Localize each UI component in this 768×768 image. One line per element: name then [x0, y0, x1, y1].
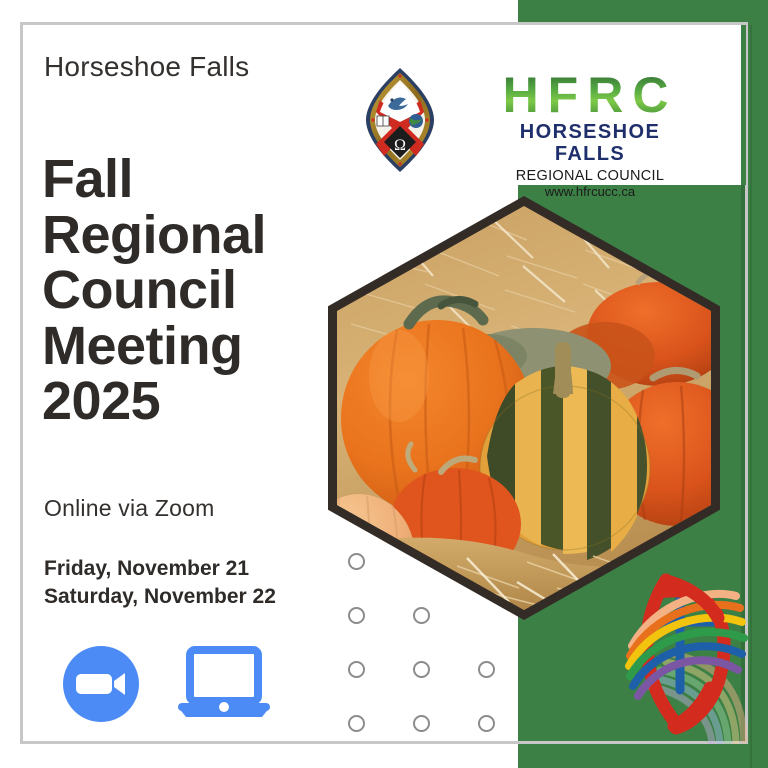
event-date-line-1: Friday, November 21 — [44, 555, 276, 583]
page-title-line-4: Meeting — [42, 319, 342, 375]
event-dates: Friday, November 21Saturday, November 22 — [44, 555, 276, 612]
page-title-line-5: 2025 — [42, 374, 342, 430]
pumpkins-on-straw-hexagon-photo — [328, 196, 720, 620]
grid-dot — [478, 661, 495, 678]
grid-dot — [413, 715, 430, 732]
poster-root: Horseshoe Falls FallRegionalCouncilMeeti… — [0, 0, 768, 768]
laptop-icon — [176, 645, 272, 723]
grid-dot — [413, 661, 430, 678]
header-backdrop-edge — [741, 25, 746, 185]
hfrc-logo-line2: REGIONAL COUNCIL — [484, 168, 696, 185]
page-title: FallRegionalCouncilMeeting2025 — [42, 152, 342, 430]
svg-text:Ω: Ω — [394, 137, 406, 154]
grid-dot — [348, 661, 365, 678]
zoom-video-icon — [62, 645, 140, 723]
grid-dot — [348, 715, 365, 732]
hfrc-logo-url: www.hfrcucc.ca — [484, 185, 696, 200]
hexagon-photo-clip — [337, 206, 711, 610]
united-church-of-canada-crest: Ω — [358, 66, 442, 174]
page-kicker: Horseshoe Falls — [44, 52, 249, 83]
event-format-label: Online via Zoom — [44, 495, 214, 522]
page-title-line-3: Council — [42, 263, 342, 319]
hfrc-logo-line1: HORSESHOE FALLS — [484, 121, 696, 165]
hfrc-logo-letters: HFRC — [484, 70, 696, 120]
grid-dot — [478, 715, 495, 732]
affirming-ministry-rainbow-logo — [616, 558, 754, 744]
event-date-line-2: Saturday, November 22 — [44, 583, 276, 611]
platform-icons-row — [62, 645, 272, 723]
page-title-line-1: Fall — [42, 152, 342, 208]
hfrc-logo: HFRC HORSESHOE FALLS REGIONAL COUNCIL ww… — [484, 70, 696, 174]
page-title-line-2: Regional — [42, 208, 342, 264]
